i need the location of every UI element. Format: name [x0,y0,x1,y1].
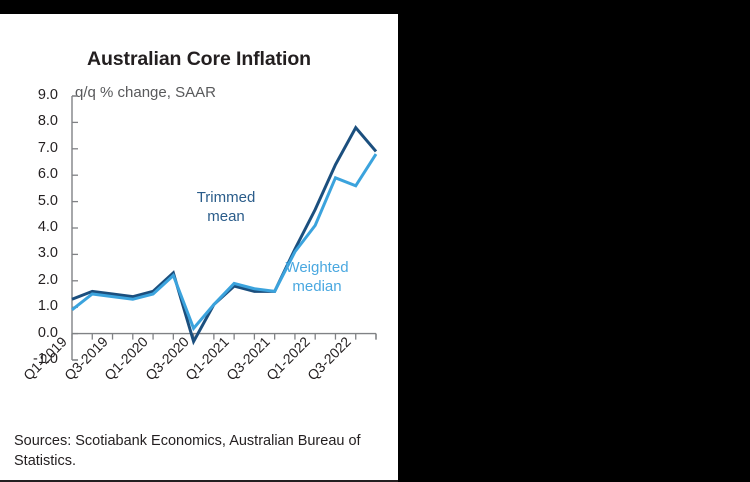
line-chart-svg [0,14,398,482]
y-axis-tick-label: 9.0 [12,87,58,103]
series-label-line: median [262,277,372,296]
series-label-trimmed-mean: Trimmedmean [176,188,276,226]
y-axis-tick-label: 2.0 [12,272,58,288]
y-axis-tick-label: 4.0 [12,219,58,235]
series-label-weighted-median: Weightedmedian [262,258,372,296]
chart-series-lines [72,128,376,342]
series-label-line: Weighted [262,258,372,277]
chart-axes [72,96,376,360]
y-axis-tick-label: 6.0 [12,166,58,182]
source-note: Sources: Scotiabank Economics, Australia… [14,432,386,471]
y-axis-tick-label: 7.0 [12,140,58,156]
y-axis-tick-label: 8.0 [12,113,58,129]
series-label-line: mean [176,207,276,226]
y-axis-tick-label: 0.0 [12,325,58,341]
chart-card: Australian Core Inflation q/q % change, … [0,14,398,482]
y-axis-tick-label: 3.0 [12,245,58,261]
y-axis-tick-label: 1.0 [12,298,58,314]
series-label-line: Trimmed [176,188,276,207]
y-axis-tick-label: 5.0 [12,193,58,209]
